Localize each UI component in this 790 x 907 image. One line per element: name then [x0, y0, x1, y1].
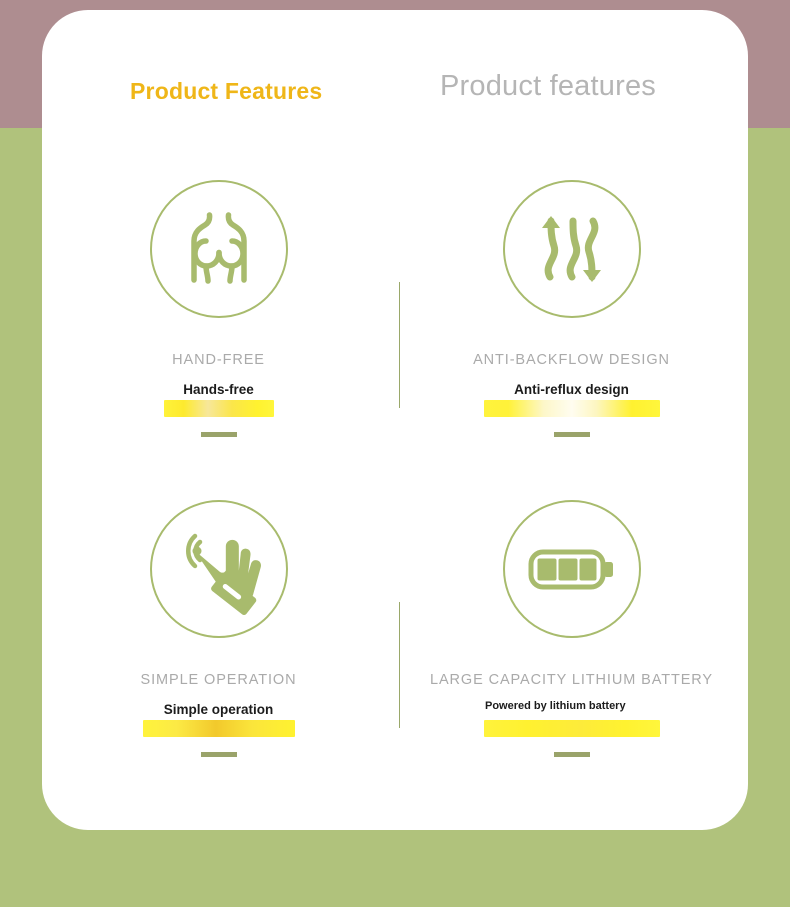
highlight-bar: [164, 400, 274, 417]
card-header: Product Features Product features: [42, 70, 748, 126]
highlight-bar: [484, 400, 660, 417]
dash-mark: [201, 752, 237, 757]
feature-card: Product Features Product features: [42, 10, 748, 830]
feature-description: Hands-free: [42, 382, 395, 397]
feature-item-simple-operation: SIMPLE OPERATION Simple operation: [42, 480, 395, 810]
feature-grid: HAND-FREE Hands-free ANTI: [42, 160, 748, 820]
feature-description-wrap: Powered by lithium battery: [395, 702, 748, 750]
hand-tap-icon: [150, 500, 288, 638]
feature-description-wrap: Hands-free: [42, 382, 395, 430]
feature-description: Simple operation: [42, 702, 395, 717]
dash-mark: [201, 432, 237, 437]
highlight-bar: [484, 720, 660, 737]
feature-caption: LARGE CAPACITY LITHIUM BATTERY: [395, 672, 748, 688]
feature-description-wrap: Simple operation: [42, 702, 395, 750]
feature-caption: ANTI-BACKFLOW DESIGN: [395, 352, 748, 368]
feature-item-hands-free: HAND-FREE Hands-free: [42, 160, 395, 490]
feature-description-wrap: Anti-reflux design: [395, 382, 748, 430]
dash-mark: [554, 752, 590, 757]
battery-icon: [503, 500, 641, 638]
feature-item-lithium-battery: LARGE CAPACITY LITHIUM BATTERY Powered b…: [395, 480, 748, 810]
page-title: Product Features: [130, 78, 322, 105]
feature-description: Powered by lithium battery: [395, 700, 748, 713]
anti-backflow-arrows-icon: [503, 180, 641, 318]
feature-caption: SIMPLE OPERATION: [42, 672, 395, 688]
highlight-bar: [143, 720, 295, 737]
feature-description: Anti-reflux design: [395, 382, 748, 397]
feature-caption: HAND-FREE: [42, 352, 395, 368]
hands-free-bra-icon: [150, 180, 288, 318]
feature-item-anti-reflux: ANTI-BACKFLOW DESIGN Anti-reflux design: [395, 160, 748, 490]
page-subtitle: Product features: [440, 70, 656, 103]
dash-mark: [554, 432, 590, 437]
